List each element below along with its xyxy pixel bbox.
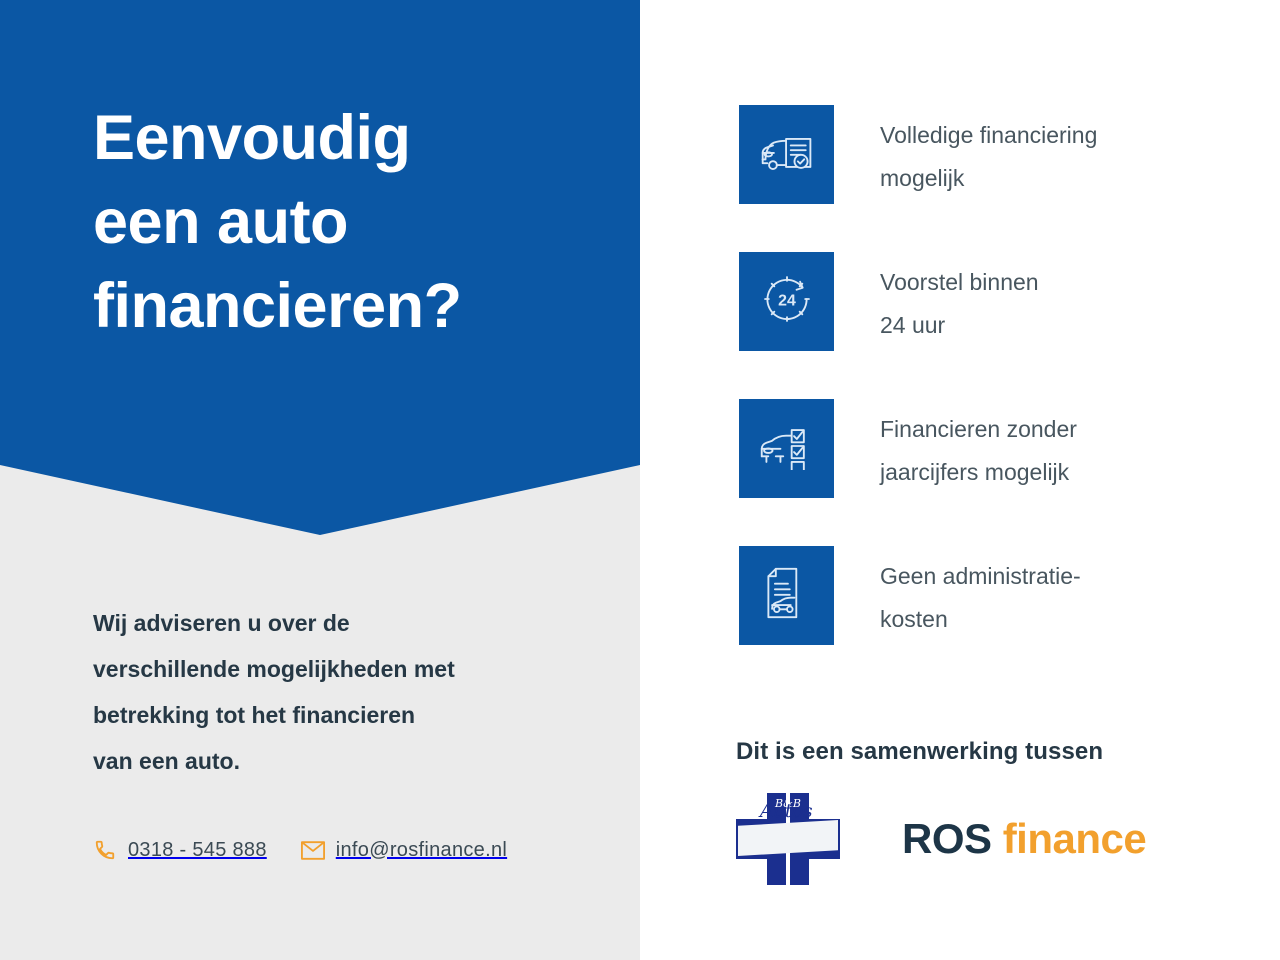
feature-icon-tile — [739, 105, 834, 204]
left-panel: Eenvoudig een auto financieren? Wij advi… — [0, 0, 640, 960]
right-panel: Volledige financiering mogelijk 24 — [640, 0, 1280, 960]
feature-icon-tile — [739, 546, 834, 645]
feature-item: 24 Voorstel binnen 24 uur — [739, 252, 1097, 351]
partnership-section: Dit is een samenwerking tussen B&B Autos… — [736, 738, 1146, 885]
ros-wordmark-secondary: finance — [1003, 815, 1147, 862]
feature-label: Financieren zonder jaarcijfers mogelijk — [880, 408, 1077, 494]
feature-item: Volledige financiering mogelijk — [739, 105, 1097, 204]
promo-poster: Eenvoudig een auto financieren? Wij advi… — [0, 0, 1280, 960]
car-checklist-icon — [758, 422, 816, 475]
bb-autos-logo: B&B Autos — [736, 793, 840, 885]
email-address: info@rosfinance.nl — [336, 839, 507, 862]
car-document-check-icon — [758, 128, 816, 181]
email-contact[interactable]: info@rosfinance.nl — [301, 838, 507, 862]
ros-finance-logo: ROS finance — [902, 815, 1146, 863]
envelope-icon — [301, 838, 325, 862]
feature-icon-tile: 24 — [739, 252, 834, 351]
bb-logo-wordmark: Autos — [736, 793, 836, 829]
phone-icon — [93, 838, 117, 862]
feature-icon-tile — [739, 399, 834, 498]
document-car-icon — [762, 566, 812, 625]
feature-label: Geen administratie- kosten — [880, 555, 1081, 641]
partner-logo-row: B&B Autos ROS finance — [736, 793, 1146, 885]
intro-paragraph: Wij adviseren u over de verschillende mo… — [93, 600, 563, 784]
phone-contact[interactable]: 0318 - 545 888 — [93, 838, 267, 862]
partnership-title: Dit is een samenwerking tussen — [736, 738, 1146, 766]
phone-number: 0318 - 545 888 — [128, 839, 267, 862]
feature-item: Financieren zonder jaarcijfers mogelijk — [739, 399, 1097, 498]
contact-row: 0318 - 545 888 info@rosfinance.nl — [93, 838, 507, 862]
feature-list: Volledige financiering mogelijk 24 — [739, 105, 1097, 645]
ros-wordmark-primary: ROS — [902, 815, 992, 862]
clock-24-hour-icon: 24 — [759, 271, 815, 332]
feature-label: Voorstel binnen 24 uur — [880, 261, 1039, 347]
feature-item: Geen administratie- kosten — [739, 546, 1097, 645]
page-title: Eenvoudig een auto financieren? — [93, 96, 613, 348]
feature-label: Volledige financiering mogelijk — [880, 114, 1097, 200]
svg-text:24: 24 — [778, 293, 796, 310]
